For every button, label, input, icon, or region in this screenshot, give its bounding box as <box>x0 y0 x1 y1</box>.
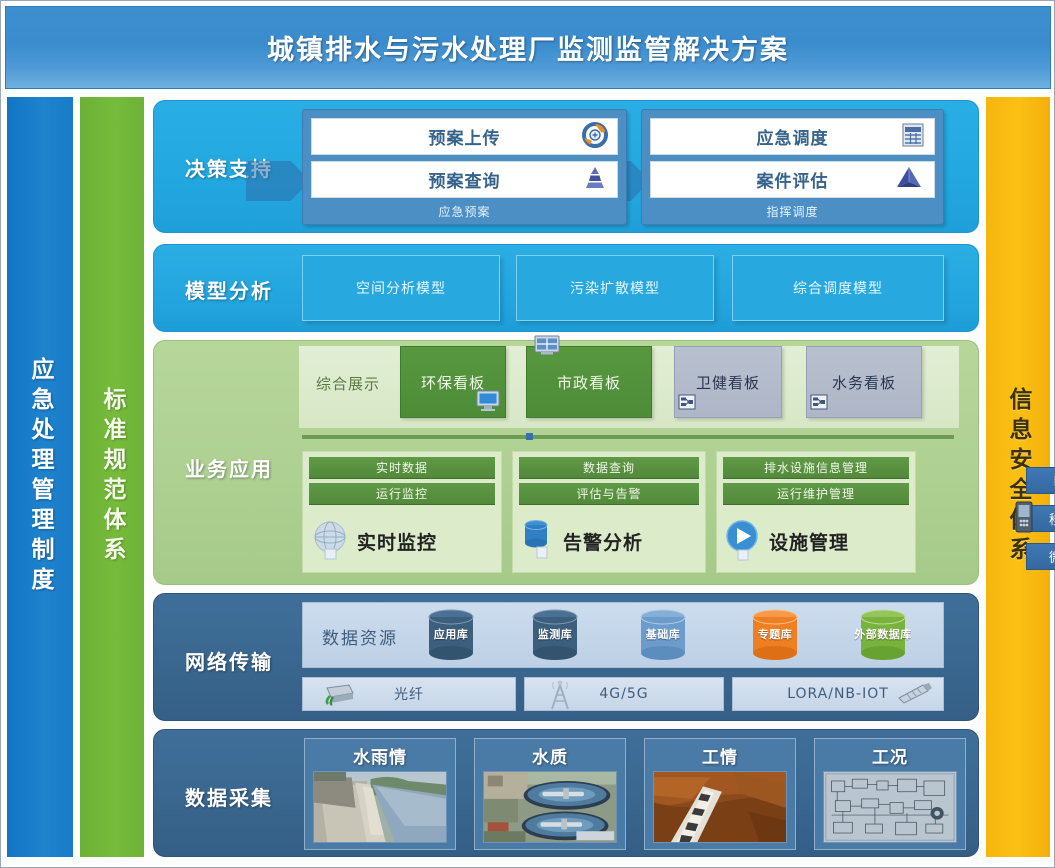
pyramid-3d-icon <box>893 165 925 195</box>
transport-media-label: LORA/NB-IOT <box>787 686 889 702</box>
diagram-frame: 城镇排水与污水处理厂监测监管解决方案 应急处理管理制度 标准规范体系 信息安全体… <box>0 0 1055 868</box>
chart-node-icon <box>810 394 828 414</box>
data-card-label: 水雨情 <box>305 741 455 769</box>
decision-item-label: 预案查询 <box>429 167 501 192</box>
fiber-cable-icon <box>319 682 359 710</box>
data-card-water-quality[interactable]: 水质 <box>474 738 626 850</box>
business-column-facility-management: 排水设施信息管理 运行维护管理 设施管理 <box>716 451 916 573</box>
kanban-municipal[interactable]: 市政看板 <box>526 346 652 418</box>
antenna-tower-icon <box>547 679 573 715</box>
data-card-label: 工况 <box>815 741 965 769</box>
business-tag-label: 排水设施信息管理 <box>764 459 868 476</box>
database-label: 外部数据库 <box>854 629 912 641</box>
play-circle-icon <box>723 517 765 565</box>
client-button-pc[interactable]: PC端 <box>1026 467 1055 494</box>
business-tag[interactable]: 运行维护管理 <box>723 483 909 505</box>
business-tag[interactable]: 实时数据 <box>309 457 495 479</box>
business-tag[interactable]: 评估与告警 <box>519 483 699 505</box>
kanban-water-affairs[interactable]: 水务看板 <box>806 346 922 418</box>
group-caption: 应急预案 <box>303 203 626 220</box>
kanban-label: 水务看板 <box>832 372 896 393</box>
section-divider <box>302 435 954 439</box>
database-thematic[interactable]: 专题库 <box>746 608 804 662</box>
database-label: 监测库 <box>538 629 573 641</box>
layer-label-business-application: 业务应用 <box>164 453 294 482</box>
client-button-microservice[interactable]: 微服务 <box>1026 543 1055 570</box>
business-module-alarm-analysis[interactable]: 告警分析 <box>519 512 699 570</box>
monitor-icon <box>475 389 501 415</box>
business-tag-label: 数据查询 <box>583 459 635 476</box>
group-caption: 指挥调度 <box>642 203 943 220</box>
data-card-label: 水质 <box>475 741 625 769</box>
database-external[interactable]: 外部数据库 <box>854 608 912 662</box>
chart-node-icon <box>678 394 696 414</box>
business-tag-label: 评估与告警 <box>576 485 641 502</box>
layer-label-network-transport: 网络传输 <box>164 646 294 675</box>
business-module-facility-management[interactable]: 设施管理 <box>723 512 909 570</box>
sedimentation-tanks-photo <box>483 771 617 843</box>
pillar-emergency-management: 应急处理管理制度 <box>7 97 73 857</box>
data-card-water-rain[interactable]: 水雨情 <box>304 738 456 850</box>
business-module-label: 实时监控 <box>357 528 437 555</box>
database-monitoring[interactable]: 监测库 <box>526 608 584 662</box>
data-card-operating-condition[interactable]: 工况 <box>814 738 966 850</box>
data-card-label: 工情 <box>645 741 795 769</box>
window-icon <box>533 334 561 360</box>
group-emergency-plan: 预案上传 预案查询 <box>302 109 627 225</box>
sensor-probe-icon <box>893 682 935 710</box>
business-module-label: 设施管理 <box>769 528 849 555</box>
decision-item-case-assessment[interactable]: 案件评估 <box>650 161 935 198</box>
client-button-label: 移动端 <box>1049 509 1055 528</box>
business-tag-label: 运行维护管理 <box>777 485 855 502</box>
transport-media-label: 4G/5G <box>599 686 648 702</box>
buried-pipeline-photo <box>653 771 787 843</box>
model-box-spatial-analysis[interactable]: 空间分析模型 <box>302 255 500 321</box>
transport-media-strip: 光纤 4G/5G LORA/NB-IOT <box>302 677 944 713</box>
mobile-phone-icon <box>1011 500 1037 540</box>
model-box-label: 空间分析模型 <box>356 278 446 298</box>
business-column-alarm-analysis: 数据查询 评估与告警 告警分析 <box>512 451 706 573</box>
layer-model-analysis: 模型分析 空间分析模型 污染扩散模型 综合调度模型 <box>153 244 979 332</box>
comprehensive-display-label: 综合展示 <box>304 373 392 394</box>
decision-item-plan-upload[interactable]: 预案上传 <box>311 118 618 155</box>
layer-network-transport: 网络传输 数据资源 应用库 <box>153 593 979 721</box>
process-schematic-photo <box>823 771 957 843</box>
decision-item-label: 应急调度 <box>757 124 829 149</box>
database-label: 基础库 <box>646 629 681 641</box>
model-box-label: 综合调度模型 <box>793 278 883 298</box>
layer-label-data-collection: 数据采集 <box>164 782 294 811</box>
kanban-label: 市政看板 <box>557 372 621 393</box>
flow-arrow-icon <box>246 161 310 201</box>
business-tag-label: 运行监控 <box>376 485 428 502</box>
data-card-engineering-status[interactable]: 工情 <box>644 738 796 850</box>
river-embankment-photo <box>313 771 447 843</box>
page-title: 城镇排水与污水处理厂监测监管解决方案 <box>267 28 789 67</box>
globe-icon <box>309 517 353 565</box>
kanban-health[interactable]: 卫健看板 <box>674 346 782 418</box>
business-tag-label: 实时数据 <box>376 459 428 476</box>
database-application[interactable]: 应用库 <box>422 608 480 662</box>
business-module-label: 告警分析 <box>563 528 643 555</box>
business-module-realtime-monitoring[interactable]: 实时监控 <box>309 512 495 570</box>
grid-table-icon <box>901 122 925 152</box>
divider-marker <box>526 433 533 440</box>
pillar-standards-system: 标准规范体系 <box>80 97 144 857</box>
business-tag[interactable]: 运行监控 <box>309 483 495 505</box>
transport-media-label: 光纤 <box>394 684 424 704</box>
transport-media-cellular[interactable]: 4G/5G <box>524 677 724 711</box>
layer-label-model-analysis: 模型分析 <box>164 275 294 304</box>
client-button-label: 微服务 <box>1049 547 1055 566</box>
database-foundation[interactable]: 基础库 <box>634 608 692 662</box>
layer-decision-support: 决策支持 预案上传 预案查询 <box>153 100 979 233</box>
database-icon <box>519 517 559 565</box>
business-tag[interactable]: 排水设施信息管理 <box>723 457 909 479</box>
transport-media-fiber[interactable]: 光纤 <box>302 677 516 711</box>
business-column-realtime-monitoring: 实时数据 运行监控 实时监控 <box>302 451 502 573</box>
kanban-environmental[interactable]: 环保看板 <box>400 346 506 418</box>
model-box-label: 污染扩散模型 <box>570 278 660 298</box>
refresh-cycle-icon <box>582 122 608 152</box>
transport-media-lora-nbiot[interactable]: LORA/NB-IOT <box>732 677 944 711</box>
business-tag[interactable]: 数据查询 <box>519 457 699 479</box>
kanban-label: 卫健看板 <box>696 372 760 393</box>
decision-item-label: 案件评估 <box>757 167 829 192</box>
database-label: 应用库 <box>434 629 469 641</box>
title-banner: 城镇排水与污水处理厂监测监管解决方案 <box>5 6 1051 89</box>
group-command-dispatch: 应急调度 案件评估 <box>641 109 944 225</box>
decision-item-emergency-dispatch[interactable]: 应急调度 <box>650 118 935 155</box>
decision-item-label: 预案上传 <box>429 124 501 149</box>
data-resource-label: 数据资源 <box>310 624 410 649</box>
pyramid-icon <box>582 166 608 194</box>
model-box-pollution-diffusion[interactable]: 污染扩散模型 <box>516 255 714 321</box>
layer-data-collection: 数据采集 水雨情 水质 <box>153 729 979 857</box>
client-button-mobile[interactable]: 移动端 <box>1026 505 1055 532</box>
decision-item-plan-query[interactable]: 预案查询 <box>311 161 618 198</box>
model-box-integrated-dispatch[interactable]: 综合调度模型 <box>732 255 944 321</box>
database-label: 专题库 <box>758 629 793 641</box>
layer-business-application: 业务应用 综合展示 环保看板 <box>153 340 979 585</box>
